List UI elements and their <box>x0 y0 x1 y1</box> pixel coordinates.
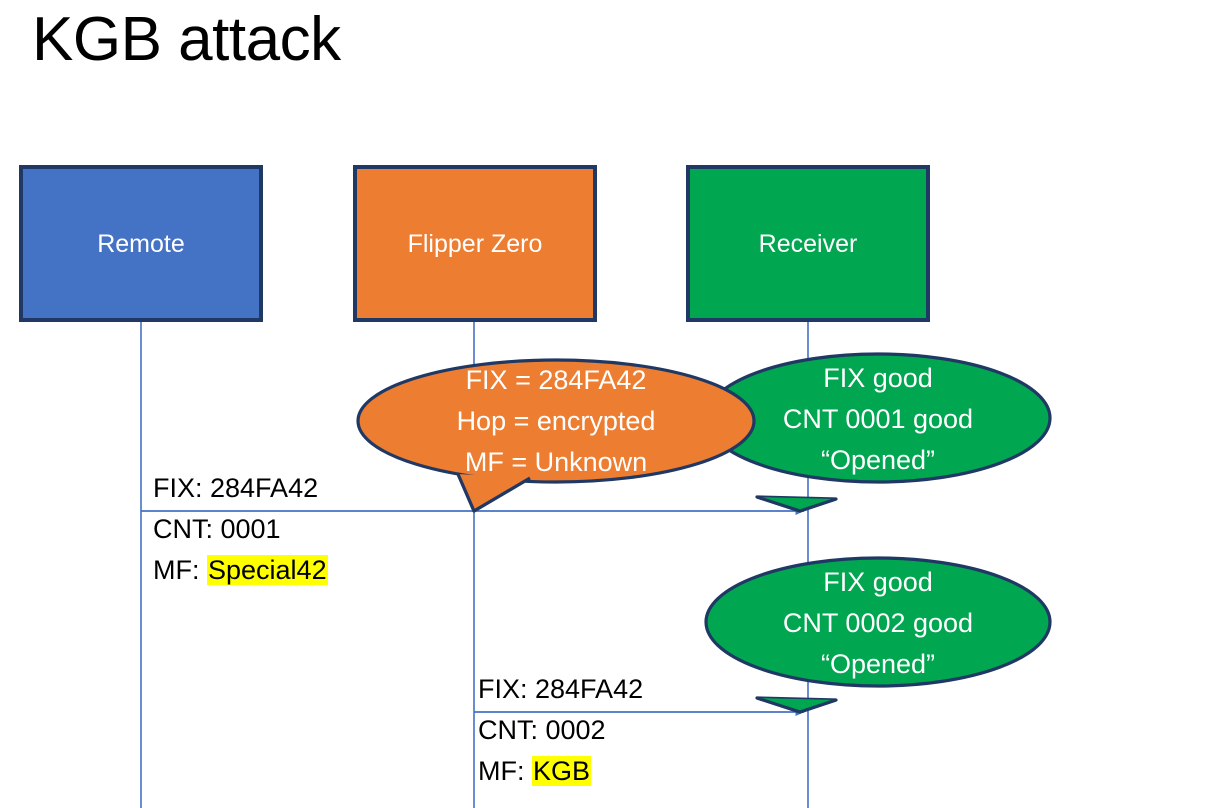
message-label-remote-to-receiver: FIX: 284FA42 CNT: 0001 MF: Special42 <box>153 468 328 591</box>
message-1-mf: MF: Special42 <box>153 550 328 591</box>
message-label-flipper-to-receiver: FIX: 284FA42 CNT: 0002 MF: KGB <box>478 669 643 792</box>
callout-receiver-first[interactable] <box>706 354 1050 511</box>
message-2-cnt: CNT: 0002 <box>478 710 643 751</box>
message-2-fix: FIX: 284FA42 <box>478 669 643 710</box>
actor-box-flipper[interactable] <box>355 167 595 320</box>
slide-canvas: KGB attack Remote Flipper Zero Receiver … <box>0 0 1218 808</box>
message-2-mf-value: KGB <box>532 756 591 786</box>
callout-receiver-second[interactable] <box>706 558 1050 712</box>
message-1-mf-label: MF: <box>153 555 207 585</box>
message-1-cnt: CNT: 0001 <box>153 509 328 550</box>
message-2-mf-label: MF: <box>478 756 532 786</box>
callout-flipper-capture[interactable] <box>358 360 754 511</box>
message-1-mf-value: Special42 <box>207 555 328 585</box>
page-title: KGB attack <box>32 6 341 74</box>
message-2-mf: MF: KGB <box>478 751 643 792</box>
message-1-fix: FIX: 284FA42 <box>153 468 328 509</box>
actor-box-remote[interactable] <box>21 167 261 320</box>
actor-box-receiver[interactable] <box>688 167 928 320</box>
